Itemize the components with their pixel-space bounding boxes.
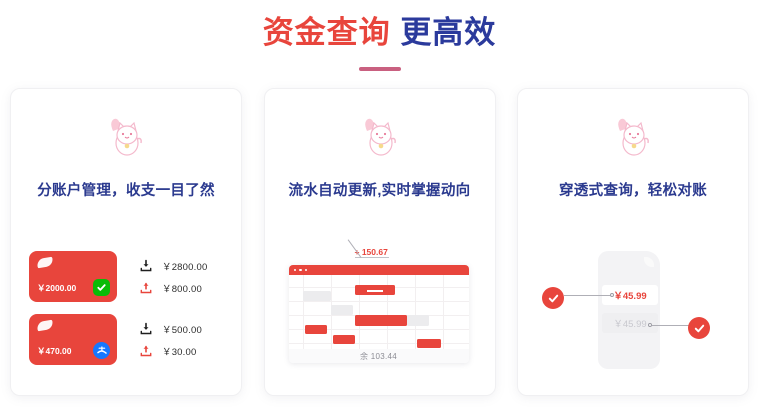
card-leaf-decor-icon (36, 257, 53, 269)
income-line: ￥2800.00 (139, 255, 207, 277)
card-title: 穿透式查询，轻松对账 (518, 179, 748, 200)
funds-query-landing-section: 资金查询 更高效 (0, 0, 759, 410)
lucky-cat-icon (357, 117, 403, 159)
window-dot-icon (299, 269, 302, 272)
download-tray-icon (139, 259, 153, 273)
statement-bar-grey (303, 291, 331, 301)
window-title-bar (289, 265, 469, 275)
grid-line-h (289, 343, 469, 344)
account-balance: ￥470.00 (37, 345, 72, 357)
match-node-left (610, 293, 614, 297)
card-header: 分账户管理，收支一目了然 (11, 89, 241, 200)
reconciliation-illustration: ￥45.99 ￥45.99 (536, 247, 732, 377)
feature-card-drill-down[interactable]: 穿透式查询，轻松对账 ￥45.99 ￥45.99 (517, 88, 749, 396)
expense-line: ￥30.00 (139, 340, 202, 362)
income-line: ￥500.00 (139, 318, 202, 340)
feature-card-auto-statement[interactable]: 流水自动更新,实时掌握动向 + 150.67 - 47.23 (264, 88, 496, 396)
phone-shape (598, 251, 660, 369)
page-title-red: 资金查询 (263, 15, 391, 50)
wechat-pay-icon (93, 279, 110, 296)
statement-bar-red (417, 339, 441, 348)
account-card-wechat[interactable]: ￥2000.00 (29, 251, 117, 302)
statement-window[interactable]: 余 103.44 (289, 265, 469, 363)
page-title-blue: 更高效 (400, 15, 496, 50)
account-card-alipay[interactable]: ￥470.00 (29, 314, 117, 365)
match-node-right (648, 323, 652, 327)
page-title-block: 资金查询 更高效 (0, 0, 759, 71)
statement-bar-red (355, 315, 407, 326)
window-dot-icon (294, 269, 297, 272)
income-amount: ￥2800.00 (162, 259, 207, 273)
statement-bar-grey (407, 315, 429, 326)
check-circle-icon (542, 287, 564, 309)
expense-amount: ￥800.00 (162, 281, 202, 295)
upload-tray-icon (139, 281, 153, 295)
feature-card-row: 分账户管理，收支一目了然 ￥2000.00 (0, 88, 759, 398)
title-underline-rule (359, 67, 401, 71)
expense-amount: ￥30.00 (162, 344, 196, 358)
account-row[interactable]: ￥470.00 (29, 314, 229, 365)
card-header: 穿透式查询，轻松对账 (518, 89, 748, 200)
account-list: ￥2000.00 (29, 251, 229, 377)
statement-balance-footer: 余 103.44 (289, 349, 469, 363)
window-dot-icon (305, 269, 308, 272)
statement-bar-red (333, 335, 355, 344)
lucky-cat-icon (103, 117, 149, 159)
income-amount: ￥500.00 (162, 322, 202, 336)
card-title: 流水自动更新,实时掌握动向 (265, 179, 495, 200)
statement-bar-grey (331, 305, 353, 315)
account-balance: ￥2000.00 (37, 282, 76, 294)
statement-bar-red (305, 325, 327, 334)
statement-grid (289, 275, 469, 349)
account-row[interactable]: ￥2000.00 (29, 251, 229, 302)
check-circle-icon (688, 317, 710, 339)
card-title: 分账户管理，收支一目了然 (11, 179, 241, 200)
match-line-left (564, 295, 612, 296)
alipay-icon (93, 342, 110, 359)
download-tray-icon (139, 322, 153, 336)
feature-card-sub-account[interactable]: 分账户管理，收支一目了然 ￥2000.00 (10, 88, 242, 396)
grid-line-h (289, 301, 469, 302)
phone-corner-fold-decor (644, 257, 654, 267)
card-leaf-decor-icon (36, 320, 53, 332)
account-flows: ￥2800.00 ￥800.00 (139, 255, 207, 299)
statement-bar-highlight (367, 290, 383, 292)
page-title: 资金查询 更高效 (0, 14, 759, 53)
expense-line: ￥800.00 (139, 277, 207, 299)
card-header: 流水自动更新,实时掌握动向 (265, 89, 495, 200)
account-flows: ￥500.00 ￥30.00 (139, 318, 202, 362)
statement-illustration: + 150.67 - 47.23 (277, 247, 485, 377)
upload-tray-icon (139, 344, 153, 358)
lucky-cat-icon (610, 117, 656, 159)
